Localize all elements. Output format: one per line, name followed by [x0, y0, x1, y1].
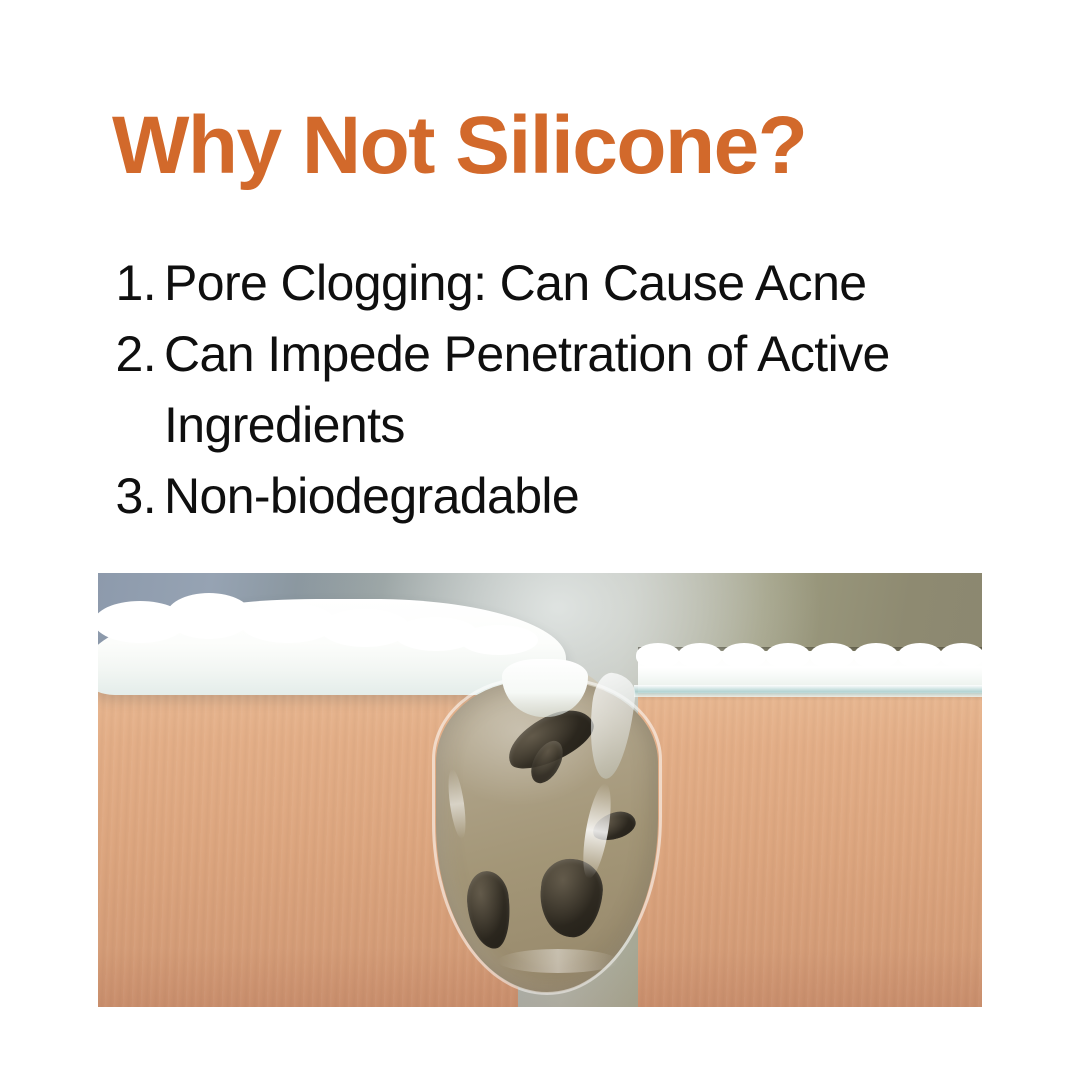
- infographic-canvas: Why Not Silicone? 1. Pore Clogging: Can …: [0, 0, 1080, 1080]
- skin-cross-section-image: [98, 573, 982, 1007]
- list-item: 1. Pore Clogging: Can Cause Acne: [98, 248, 1018, 319]
- cream-lobes-left: [98, 591, 558, 643]
- serum-film-right: [634, 685, 982, 697]
- reasons-list: 1. Pore Clogging: Can Cause Acne 2. Can …: [98, 248, 1018, 532]
- list-item: 3. Non-biodegradable: [98, 461, 1018, 532]
- list-item-number: 1.: [98, 248, 164, 319]
- illustration-bottom-vignette: [98, 947, 982, 1007]
- cream-bumps-right: [634, 643, 982, 667]
- list-item: 2. Can Impede Penetration of Active Ingr…: [98, 319, 1018, 461]
- list-item-label: Non-biodegradable: [164, 461, 994, 532]
- list-item-number: 3.: [98, 461, 164, 532]
- list-item-label: Can Impede Penetration of Active Ingredi…: [164, 319, 994, 461]
- list-item-label: Pore Clogging: Can Cause Acne: [164, 248, 994, 319]
- page-title: Why Not Silicone?: [112, 104, 972, 188]
- list-item-number: 2.: [98, 319, 164, 390]
